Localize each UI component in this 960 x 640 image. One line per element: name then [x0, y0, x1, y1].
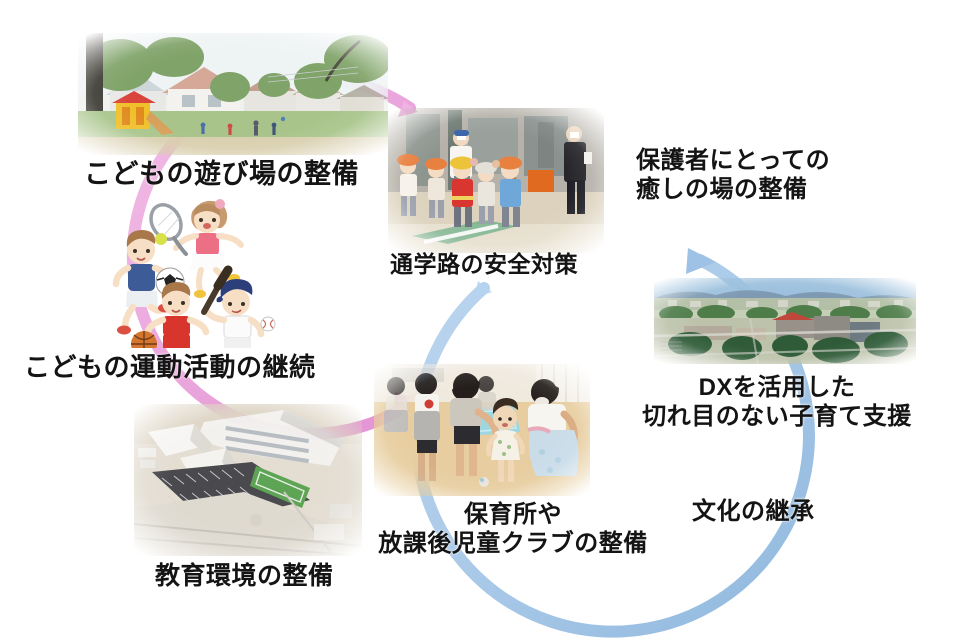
nursery-photo — [374, 364, 590, 496]
school-aerial-scene — [134, 404, 362, 556]
nursery-scene — [374, 364, 590, 496]
aerial-city-photo — [654, 278, 916, 364]
aerial-city-scene — [654, 278, 916, 364]
school-aerial-photo — [134, 404, 362, 556]
park-playground-photo — [78, 33, 388, 155]
label-playground: こどもの遊び場の整備 — [84, 158, 359, 191]
label-school-route: 通学路の安全対策 — [390, 250, 578, 278]
label-healing-place: 保護者にとっての 癒しの場の整備 — [636, 146, 830, 205]
label-culture-succession: 文化の継承 — [692, 497, 815, 526]
park-playground-scene — [78, 33, 388, 155]
slide-canvas: こどもの遊び場の整備 通学路の安全対策 保護者にとっての 癒しの場の整備 こども… — [0, 0, 960, 640]
school-route-photo — [388, 108, 604, 253]
label-sports-activity: こどもの運動活動の継続 — [24, 352, 316, 384]
school-route-scene — [388, 108, 604, 253]
label-nursery-club: 保育所や 放課後児童クラブの整備 — [360, 500, 666, 559]
label-dx-support: DXを活用した 切れ目のない子育て支援 — [632, 373, 922, 432]
sports-kids-scene — [108, 192, 294, 348]
sports-kids-illustration — [108, 192, 294, 348]
label-education-environment: 教育環境の整備 — [155, 561, 334, 592]
